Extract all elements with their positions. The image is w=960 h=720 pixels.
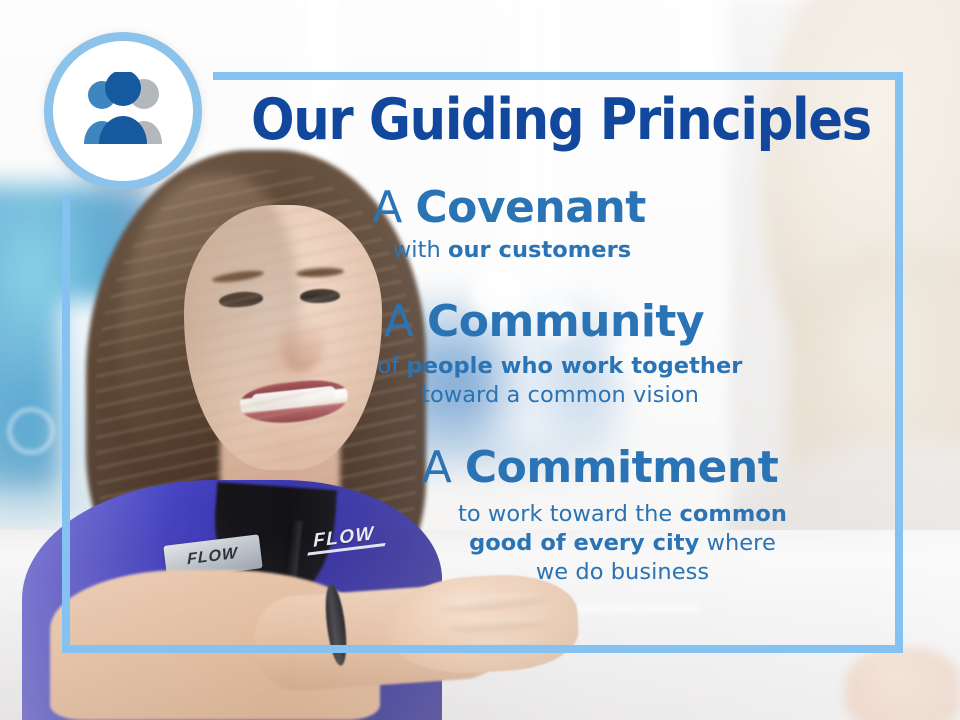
- frame-border-bottom: [62, 645, 903, 653]
- subtext-part: toward a common vision: [421, 382, 699, 408]
- subtext-part-bold: good of every city: [469, 530, 699, 556]
- page-title: Our Guiding Principles: [251, 92, 845, 149]
- principle-commitment: A Commitment to work toward the common g…: [120, 443, 880, 587]
- subtext-part: with: [393, 237, 448, 263]
- customer-hand: [845, 648, 960, 720]
- principle-subtext: of people who work together toward a com…: [120, 352, 880, 411]
- people-group-badge: [44, 32, 202, 190]
- principle-covenant: A Covenant with our customers: [120, 183, 880, 266]
- subtext-line: toward a common vision: [240, 381, 880, 410]
- frame-border-top: [213, 72, 903, 80]
- principle-article: A: [422, 442, 465, 493]
- principle-subtext: to work toward the common good of every …: [120, 500, 880, 588]
- principles-list: A Covenant with our customers A Communit…: [120, 183, 880, 589]
- frame-border-left: [62, 196, 70, 653]
- subtext-line: to work toward the common: [365, 500, 880, 529]
- subtext-part: where: [699, 530, 776, 556]
- subtext-part-bold: people who work together: [407, 353, 743, 379]
- subtext-part: we do business: [536, 559, 709, 585]
- principle-community: A Community of people who work together …: [120, 297, 880, 411]
- principle-noun: Covenant: [415, 182, 645, 233]
- subtext-part: of: [378, 353, 407, 379]
- subtext-line: of people who work together: [240, 352, 880, 381]
- guiding-principles-graphic: FLOW FLOW: [0, 0, 960, 720]
- subtext-line: we do business: [365, 558, 880, 587]
- blurred-vehicle-emblem: [8, 408, 54, 454]
- principle-subtext: with our customers: [120, 236, 880, 265]
- subtext-part-bold: our customers: [448, 237, 631, 263]
- principle-title: A Community: [120, 297, 880, 346]
- subtext-part: to work toward the: [458, 501, 679, 527]
- people-group-icon: [71, 72, 175, 150]
- subtext-part-bold: common: [679, 501, 786, 527]
- frame-border-right: [895, 72, 903, 653]
- subtext-line: with our customers: [393, 237, 631, 263]
- principle-title: A Commitment: [120, 443, 880, 492]
- principle-title: A Covenant: [120, 183, 880, 232]
- principle-article: A: [384, 296, 427, 347]
- principle-noun: Commitment: [465, 442, 778, 493]
- subtext-line: good of every city where: [365, 529, 880, 558]
- principle-article: A: [372, 182, 415, 233]
- principle-noun: Community: [427, 296, 704, 347]
